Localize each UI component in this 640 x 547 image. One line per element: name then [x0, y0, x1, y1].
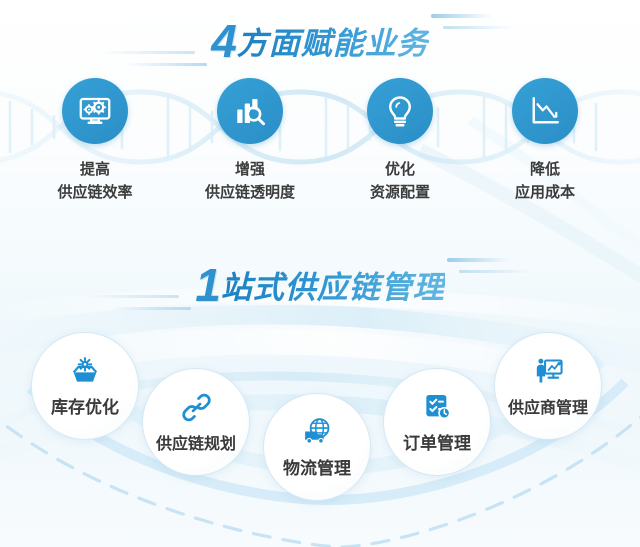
section-title-one-stop-scm: 1站式供应链管理 [0, 262, 640, 308]
title-speedline-d [99, 51, 195, 54]
feature-label: 提高 供应链效率 [20, 158, 170, 205]
title-speedline-b [443, 26, 515, 29]
feature-label: 优化 资源配置 [325, 158, 475, 205]
section-number: 1 [195, 259, 219, 311]
bubble-label: 物流管理 [283, 454, 351, 479]
bubble-logistics-management[interactable]: 物流管理 [263, 393, 371, 501]
title-speedline-a [447, 258, 509, 262]
feature-item-transparency[interactable]: 增强 供应链透明度 [175, 78, 325, 205]
bar-chart-search-icon [232, 93, 268, 129]
feature-item-cost[interactable]: 降低 应用成本 [470, 78, 620, 205]
feature-item-resource[interactable]: 优化 资源配置 [325, 78, 475, 205]
bubble-label: 订单管理 [403, 429, 471, 454]
feature-label-line1: 提高 [20, 158, 170, 181]
feature-label: 增强 供应链透明度 [175, 158, 325, 205]
capability-bubble-list: 库存优化 供应链规划 物流管理 [0, 320, 640, 520]
globe-truck-icon [301, 415, 334, 448]
feature-label-line2: 应用成本 [470, 181, 620, 204]
feature-label-line1: 增强 [175, 158, 325, 181]
infographic-canvas: 4方面赋能业务 [0, 0, 640, 547]
monitor-gears-icon [77, 93, 113, 129]
chain-link-icon [180, 391, 213, 424]
bubble-supply-chain-planning[interactable]: 供应链规划 [142, 368, 250, 476]
feature-item-efficiency[interactable]: 提高 供应链效率 [20, 78, 170, 205]
feature-label-line2: 供应链效率 [20, 181, 170, 204]
section-number: 4 [211, 15, 235, 67]
feature-list: 提高 供应链效率 增强 供应链透明度 [0, 78, 640, 218]
feature-label-line1: 降低 [470, 158, 620, 181]
bubble-order-management[interactable]: 订单管理 [383, 368, 491, 476]
title-speedline-a [431, 14, 493, 18]
section-title-enable-business: 4方面赋能业务 [0, 18, 640, 64]
feature-icon-circle [217, 78, 283, 144]
bubble-label: 供应链规划 [156, 430, 236, 454]
feature-icon-circle [367, 78, 433, 144]
title-speedline-b [459, 270, 531, 273]
feature-label-line2: 资源配置 [325, 181, 475, 204]
title-speedline-d [83, 295, 179, 298]
title-speedline-c [109, 307, 191, 310]
section-title-text: 站式供应链管理 [221, 270, 445, 305]
presenter-board-icon [532, 355, 565, 388]
line-chart-down-icon [527, 93, 563, 129]
inventory-box-gear-icon [69, 355, 101, 387]
feature-label-line1: 优化 [325, 158, 475, 181]
feature-label: 降低 应用成本 [470, 158, 620, 205]
title-speedline-c [125, 63, 207, 66]
feature-icon-circle [512, 78, 578, 144]
clipboard-clock-icon [421, 391, 453, 423]
bubble-label: 库存优化 [51, 393, 119, 418]
bubble-label: 供应商管理 [508, 394, 588, 418]
section-title-text: 方面赋能业务 [237, 26, 429, 61]
lightbulb-icon [382, 93, 418, 129]
bubble-supplier-management[interactable]: 供应商管理 [494, 332, 602, 440]
feature-icon-circle [62, 78, 128, 144]
feature-label-line2: 供应链透明度 [175, 181, 325, 204]
bubble-inventory-optimization[interactable]: 库存优化 [31, 332, 139, 440]
